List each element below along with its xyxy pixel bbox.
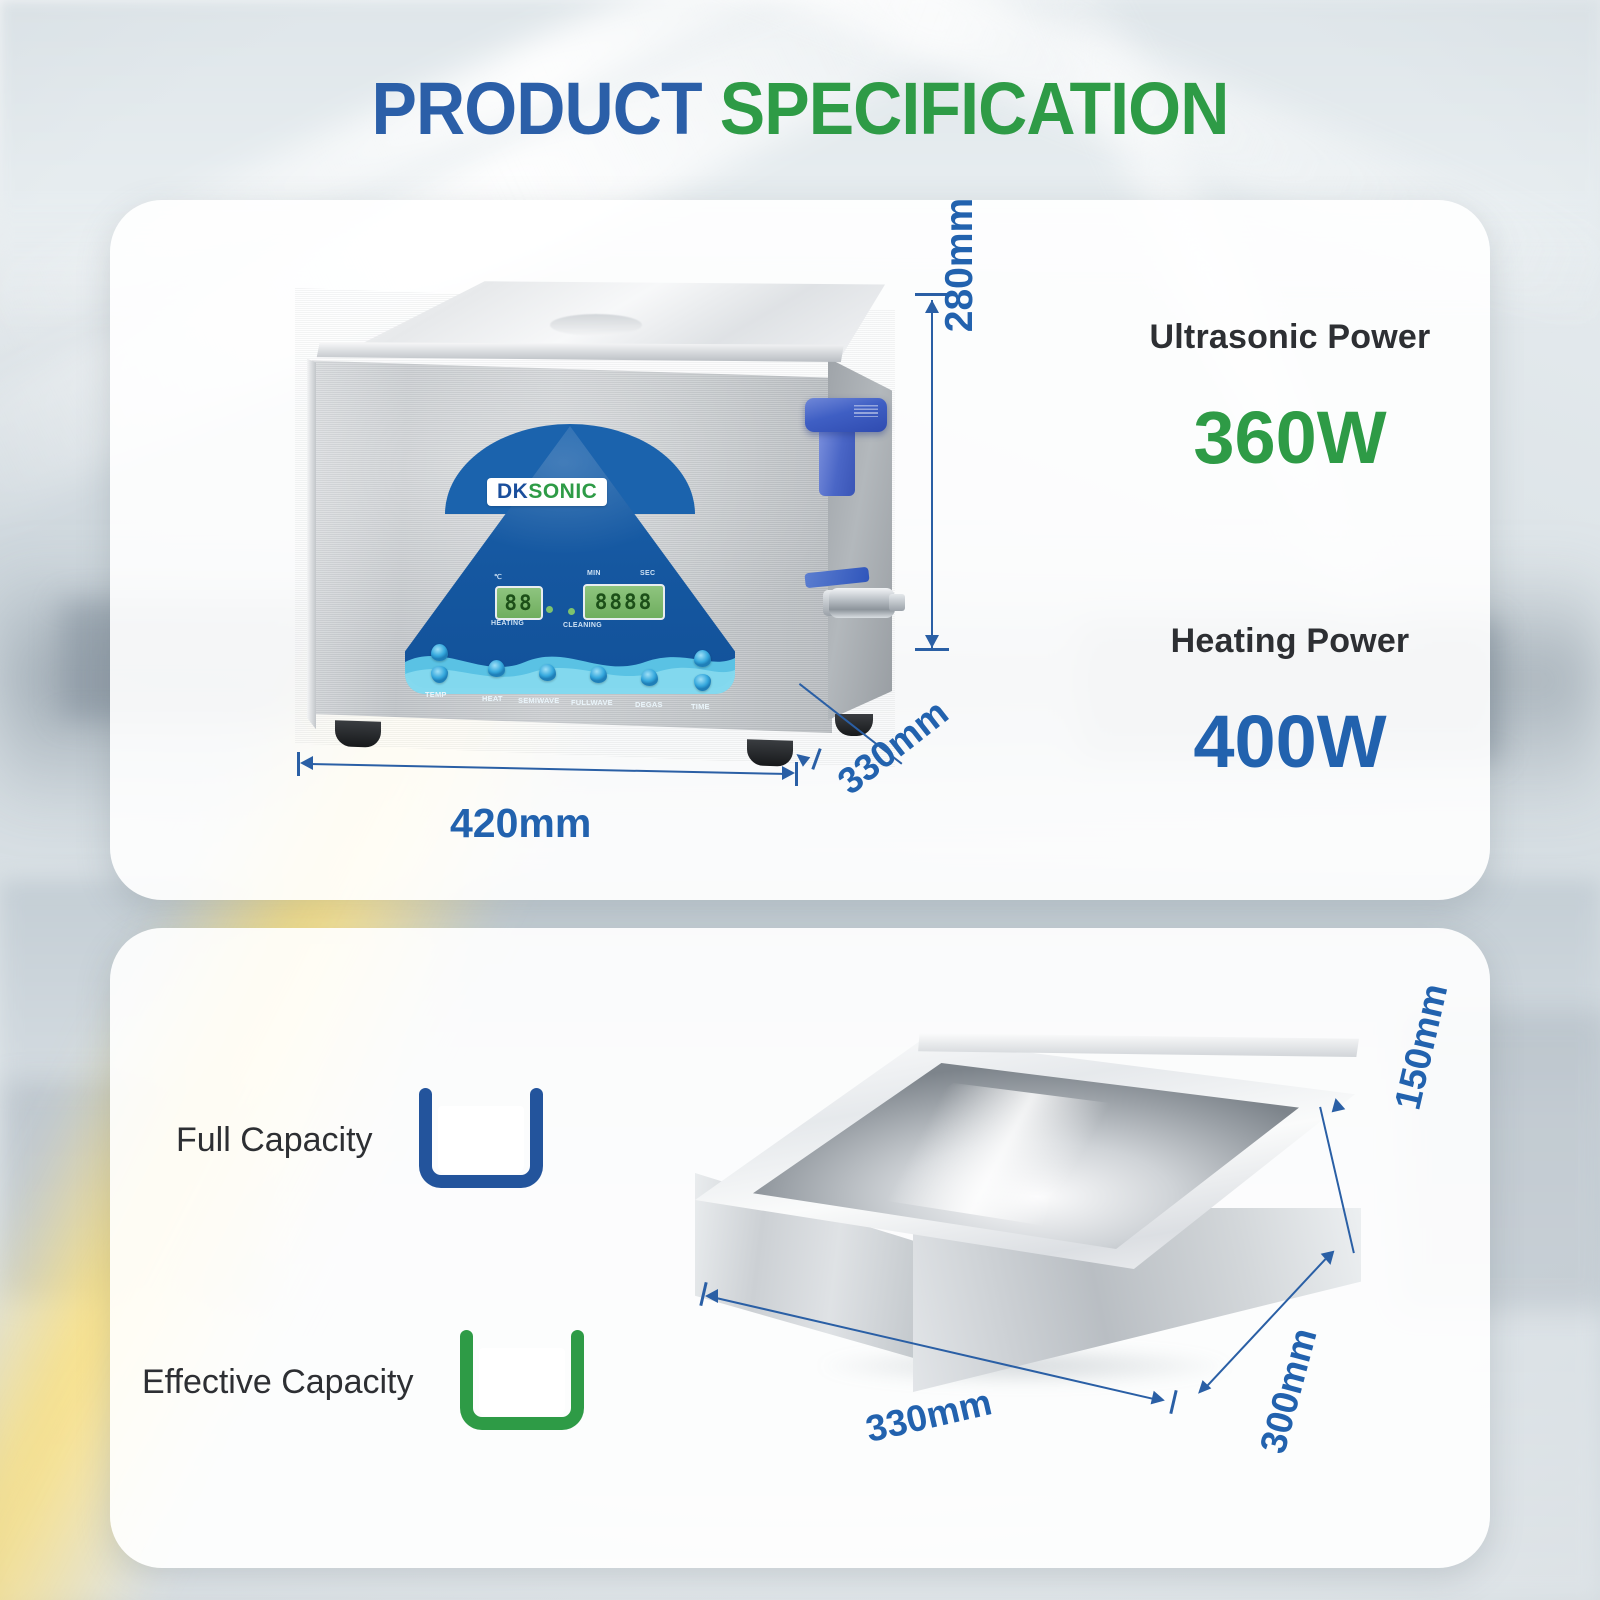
heat-button[interactable] xyxy=(488,660,505,677)
display-sec-caption: SEC xyxy=(640,570,655,577)
cleaning-indicator-led xyxy=(568,608,575,615)
handle-ribs xyxy=(854,405,878,417)
valve-body xyxy=(829,588,895,618)
logo-dk: DK xyxy=(497,480,528,503)
valve-lever xyxy=(804,567,869,589)
stainless-tank-image xyxy=(655,965,1385,1415)
width-dimension-cap-right xyxy=(795,762,798,786)
button-label-time: TIME xyxy=(691,702,710,711)
tank-width-arrow-left-icon xyxy=(705,1289,718,1303)
full-capacity-tank-icon: 15L xyxy=(419,1088,543,1192)
page-title: PRODUCT SPECIFICATION xyxy=(64,72,1536,146)
handle-top xyxy=(805,398,887,432)
heating-power-value: 400W xyxy=(1075,701,1505,784)
display-min-caption: MIN xyxy=(587,570,601,577)
degas-button[interactable] xyxy=(641,669,658,686)
full-capacity-row: Full Capacity 15L xyxy=(176,1088,543,1192)
width-dimension-label: 420mm xyxy=(450,800,591,847)
height-dimension-cap-bottom xyxy=(915,648,949,651)
temp-up-button[interactable] xyxy=(431,644,448,661)
height-dimension-line xyxy=(931,300,933,648)
valve-outlet xyxy=(889,594,905,611)
device-lid-handle-dimple xyxy=(550,314,642,336)
heating-power-spec: Heating Power 400W xyxy=(1075,622,1505,784)
button-label-temp: TEMP xyxy=(425,690,447,699)
temperature-display: 88 xyxy=(495,586,543,620)
button-label-semiwave: SEMIWAVE xyxy=(518,696,559,705)
effective-capacity-tank-icon: 12L xyxy=(460,1330,584,1434)
ultrasonic-power-label: Ultrasonic Power xyxy=(1075,318,1505,357)
device-left-edge xyxy=(307,355,316,733)
timer-display: 8888 xyxy=(583,584,665,620)
button-label-degas: DEGAS xyxy=(635,700,663,709)
effective-capacity-label: Effective Capacity xyxy=(142,1363,414,1402)
device-foot xyxy=(747,739,793,767)
temp-down-button[interactable] xyxy=(431,666,448,683)
heating-label: HEATING xyxy=(491,620,524,627)
brand-logo: DKSONIC xyxy=(487,478,607,506)
page-title-product: PRODUCT xyxy=(372,67,720,150)
ultrasonic-cleaner-image: DKSONIC ℃ MIN SEC 88 8888 HEATING CLEANI… xyxy=(295,278,895,768)
semiwave-button[interactable] xyxy=(539,664,556,681)
full-capacity-label: Full Capacity xyxy=(176,1121,373,1160)
display-celsius-caption: ℃ xyxy=(494,573,502,581)
width-arrow-right-icon xyxy=(782,766,795,780)
heating-indicator-led xyxy=(546,606,553,613)
effective-capacity-row: Effective Capacity 12L xyxy=(142,1330,584,1434)
control-button-row: TEMP HEAT SEMIWAVE FULLWAVE DEGAS TIME xyxy=(413,644,733,696)
width-dimension-cap-left xyxy=(297,752,300,776)
logo-sonic: SONIC xyxy=(528,480,597,503)
button-label-fullwave: FULLWAVE xyxy=(571,698,613,707)
height-dimension-label: 280mm xyxy=(938,160,982,370)
handle-leg xyxy=(819,424,855,496)
time-down-button[interactable] xyxy=(694,674,711,691)
page-title-specification: SPECIFICATION xyxy=(720,67,1229,150)
width-arrow-left-icon xyxy=(300,756,313,770)
device-lid-handle xyxy=(805,398,887,496)
device-foot xyxy=(335,720,381,748)
ultrasonic-power-spec: Ultrasonic Power 360W xyxy=(1075,318,1505,480)
effective-capacity-value: 12L xyxy=(479,1348,565,1416)
drain-valve xyxy=(803,570,899,628)
fullwave-button[interactable] xyxy=(590,666,607,683)
full-capacity-value: 15L xyxy=(438,1106,524,1174)
ultrasonic-power-value: 360W xyxy=(1075,397,1505,480)
heating-power-label: Heating Power xyxy=(1075,622,1505,661)
cleaning-label: CLEANING xyxy=(563,622,602,629)
height-arrow-up-icon xyxy=(925,300,939,313)
time-up-button[interactable] xyxy=(694,650,711,667)
button-label-heat: HEAT xyxy=(482,694,503,703)
height-arrow-down-icon xyxy=(925,635,939,648)
